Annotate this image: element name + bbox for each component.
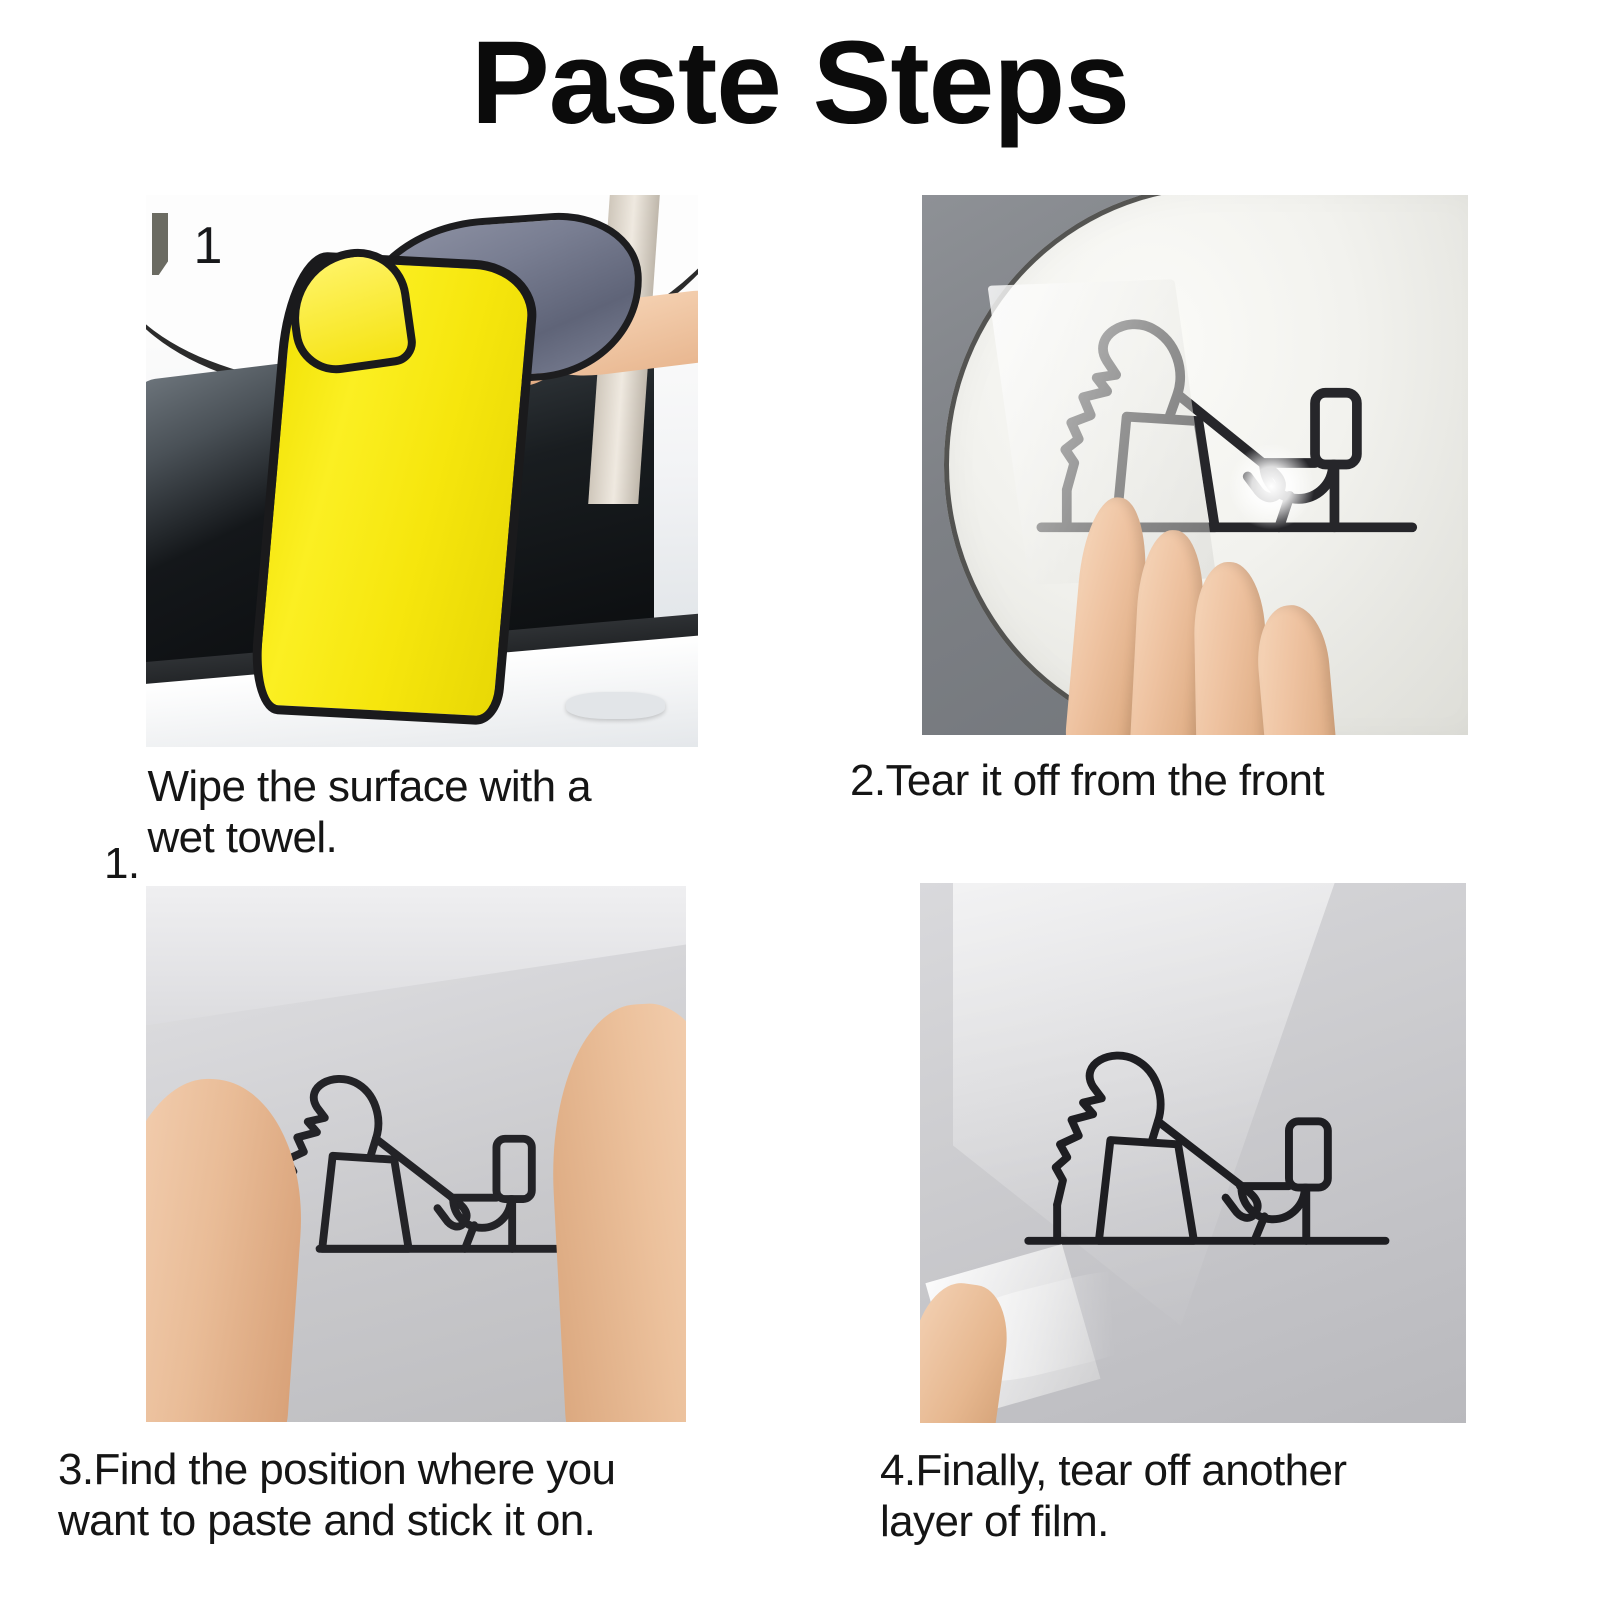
step-2-caption-text: 2.Tear it off from the front bbox=[850, 756, 1324, 805]
step-1-caption: 1. Wipe the surface with a wet towel. bbox=[104, 761, 698, 863]
step-1-photo: 1 bbox=[146, 195, 698, 747]
step-3-caption-line1: 3.Find the position where you bbox=[58, 1445, 615, 1494]
step-2-photo bbox=[922, 195, 1468, 735]
badge-number: 1 bbox=[194, 216, 223, 276]
step-4: 4.Finally, tear off another layer of fil… bbox=[920, 883, 1466, 1547]
step-4-caption-line1: 4.Finally, tear off another bbox=[880, 1446, 1346, 1495]
step-3: 3.Find the position where you want to pa… bbox=[146, 886, 686, 1546]
page-title: Paste Steps bbox=[0, 22, 1600, 146]
step-2-caption: 2.Tear it off from the front bbox=[850, 755, 1468, 806]
toilet-tank bbox=[1315, 393, 1357, 465]
paste-steps-infographic: Paste Steps 1 bbox=[0, 0, 1600, 1600]
step-number-badge: 1 bbox=[146, 195, 246, 293]
toilet-tank bbox=[1289, 1121, 1328, 1187]
step-1-caption-line1: Wipe the surface with a bbox=[148, 762, 592, 811]
step-4-caption: 4.Finally, tear off another layer of fil… bbox=[880, 1445, 1466, 1547]
step-4-caption-line2: layer of film. bbox=[880, 1497, 1109, 1546]
step-1-number: 1. bbox=[104, 838, 140, 889]
car-door-handle bbox=[566, 692, 665, 720]
figure-torso bbox=[284, 1156, 408, 1249]
step-1-caption-text: Wipe the surface with a wet towel. bbox=[148, 761, 699, 863]
step-2: 2.Tear it off from the front bbox=[922, 195, 1468, 806]
badge-bar-icon bbox=[152, 213, 168, 275]
steps-grid: 1 1. Wipe the surface with a wet towel. bbox=[0, 190, 1600, 1600]
step-4-photo bbox=[920, 883, 1466, 1423]
figure-torso bbox=[1057, 1140, 1194, 1241]
step-3-caption-line2: want to paste and stick it on. bbox=[58, 1496, 595, 1545]
finger-3 bbox=[1193, 562, 1268, 735]
step-3-caption: 3.Find the position where you want to pa… bbox=[58, 1444, 686, 1546]
step-3-photo bbox=[146, 886, 686, 1422]
step-1-caption-line2: wet towel. bbox=[148, 813, 338, 862]
toilet-tank bbox=[496, 1139, 531, 1199]
step-1: 1 1. Wipe the surface with a wet towel. bbox=[146, 195, 698, 863]
toilet-pedestal bbox=[1254, 1188, 1306, 1241]
light-glare bbox=[1228, 443, 1315, 529]
